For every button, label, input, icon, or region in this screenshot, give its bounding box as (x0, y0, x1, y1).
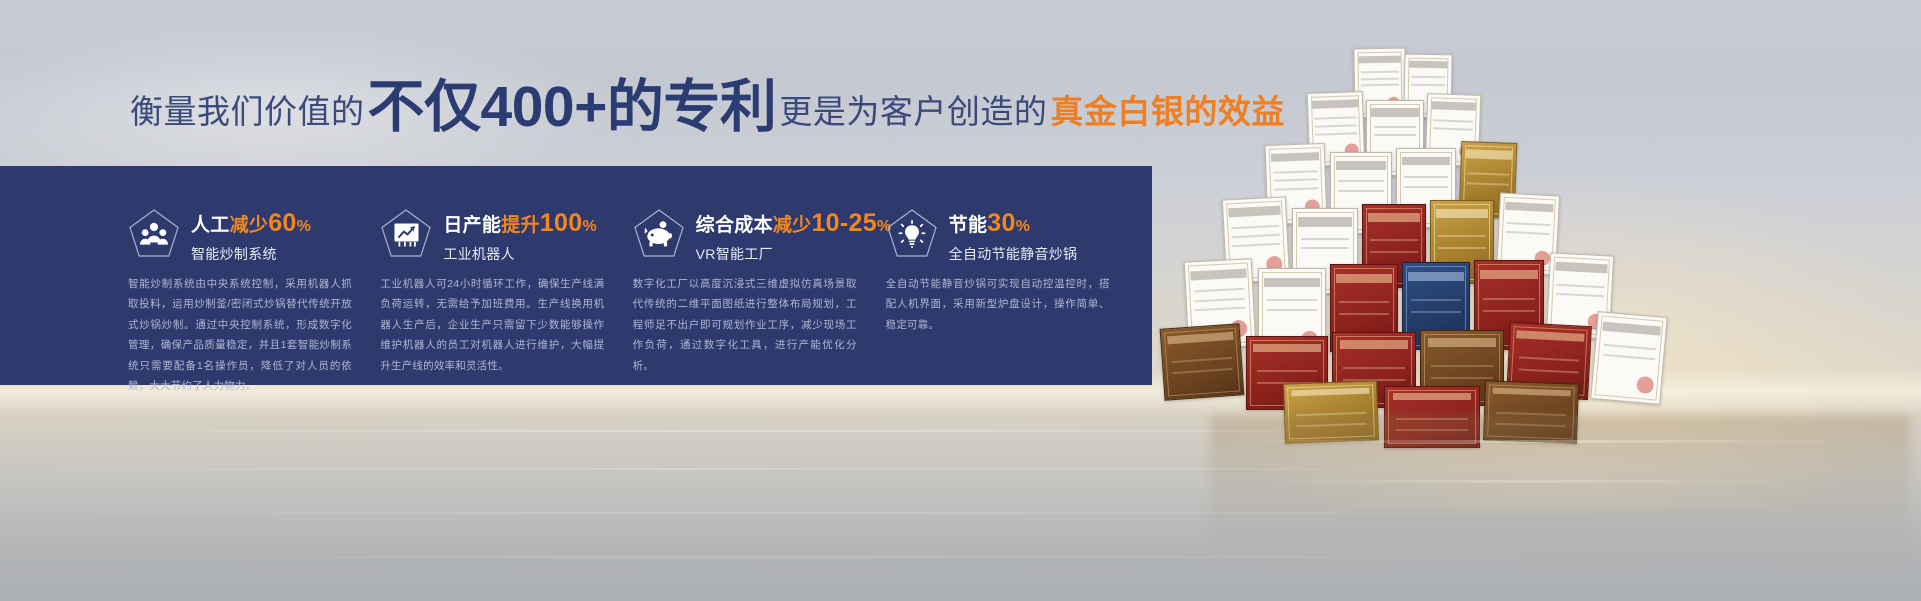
award-plaque (1160, 323, 1245, 400)
headline-lead: 衡量我们价值的 (130, 95, 365, 128)
feature-item: 综合成本减少10-25% VR智能工厂 数字化工厂以高度沉浸式三维虚拟仿真场景取… (633, 166, 886, 385)
feature-title-percent: % (582, 218, 597, 235)
feature-title: 日产能提升100% (443, 209, 597, 237)
feature-title-number: 100 (540, 209, 583, 237)
feature-item: 日产能提升100% 工业机器人 工业机器人可24小时循环工作，确保生产线满负荷运… (380, 166, 632, 385)
feature-title-number: 10-25 (811, 209, 876, 237)
people-group-icon (128, 208, 180, 260)
feature-item: 人工减少60% 智能炒制系统 智能炒制系统由中央系统控制，采用机器人抓取投料，运… (128, 166, 380, 385)
feature-subtitle: VR智能工厂 (696, 244, 892, 264)
award-plaque (1384, 386, 1480, 448)
feature-title-percent: % (1016, 218, 1031, 235)
feature-title-main: 人工 (191, 215, 230, 236)
feature-subtitle: 全自动节能静音炒锅 (949, 244, 1078, 264)
feature-title: 人工减少60% (191, 209, 311, 237)
chart-board-icon (380, 208, 432, 260)
feature-title: 综合成本减少10-25% (696, 209, 892, 237)
award-plaque (1483, 380, 1579, 443)
feature-title-number: 60 (268, 209, 296, 237)
award-plaque (1283, 380, 1379, 443)
feature-item: 节能30% 全自动节能静音炒锅 全自动节能静音炒锅可实现自动控温控时，搭配人机界… (886, 166, 1138, 385)
certificate-pyramid (1180, 48, 1921, 601)
feature-title-accent: 减少 (773, 215, 812, 236)
feature-subtitle: 智能炒制系统 (191, 244, 311, 264)
reflection-band (1230, 440, 1850, 443)
feature-description: 数字化工厂以高度沉浸式三维虚拟仿真场景取代传统的二维平面图纸进行整体布局规划，工… (633, 274, 857, 376)
feature-title-percent: % (297, 218, 312, 235)
feature-title-main: 节能 (949, 215, 988, 236)
page-headline: 衡量我们价值的 不仅400+的专利 更是为客户创造的 真金白银的效益 (130, 76, 1285, 138)
feature-title-accent: 减少 (230, 215, 269, 236)
feature-description: 工业机器人可24小时循环工作，确保生产线满负荷运转，无需给予加班费用。生产线换用… (380, 274, 604, 376)
lightbulb-icon (886, 208, 938, 260)
headline-middle: 更是为客户创造的 (779, 95, 1047, 128)
reflection-band (1260, 480, 1800, 483)
feature-title: 节能30% (949, 209, 1078, 237)
features-panel: 人工减少60% 智能炒制系统 智能炒制系统由中央系统控制，采用机器人抓取投料，运… (0, 166, 1152, 385)
feature-title-main: 综合成本 (696, 215, 773, 236)
feature-title-accent: 提升 (501, 215, 540, 236)
certificate-item (1590, 311, 1667, 405)
feature-description: 全自动节能静音炒锅可实现自动控温控时，搭配人机界面，采用新型炉盘设计，操作简单、… (886, 274, 1110, 335)
headline-emphasis: 不仅400+的专利 (368, 79, 777, 136)
piggy-bank-icon (633, 208, 685, 260)
feature-description: 智能炒制系统由中央系统控制，采用机器人抓取投料，运用炒制釜/密闭式炒锅替代传统开… (128, 274, 352, 397)
feature-subtitle: 工业机器人 (443, 244, 597, 264)
feature-title-number: 30 (987, 209, 1015, 237)
feature-title-main: 日产能 (443, 215, 501, 236)
